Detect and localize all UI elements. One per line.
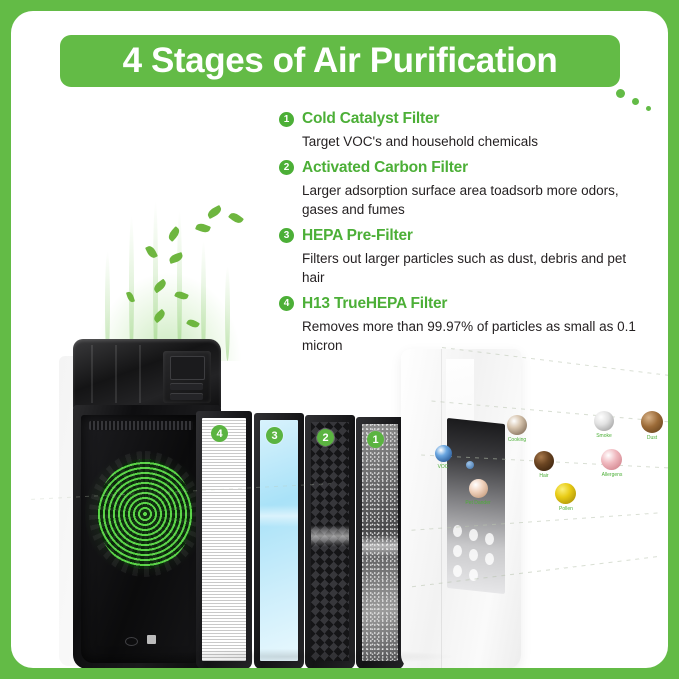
purifier-knob	[125, 637, 138, 646]
feature-title: Cold Catalyst Filter	[302, 110, 439, 128]
particle-cooking	[507, 415, 527, 435]
particle-label-dust: Dust	[647, 435, 657, 441]
filter-badge-3: 3	[266, 427, 283, 444]
particle-label-hair: Hair	[539, 473, 548, 479]
white-purifier-unit	[401, 349, 521, 668]
particle-label-cooking: Cooking	[508, 437, 526, 443]
page-title: 4 Stages of Air Purification	[60, 35, 620, 87]
particle-allergens	[601, 449, 622, 470]
purifier-top-seam	[115, 345, 117, 403]
green-border-frame: 4 Stages of Air Purification 1 Cold Cata…	[0, 0, 679, 679]
feature-description: Target VOC's and household chemicals	[302, 132, 642, 152]
control-button-row-top[interactable]	[170, 383, 203, 390]
filter-media-blue	[260, 420, 298, 661]
product-illustration: 4 3 2 1	[11, 161, 668, 668]
particle-pet-dander	[469, 479, 488, 498]
particle-micro-dot	[466, 461, 474, 469]
airflow-plume	[83, 186, 253, 361]
purifier-top-seam	[139, 345, 141, 403]
title-banner: 4 Stages of Air Purification	[60, 35, 642, 91]
particle-dust	[641, 411, 663, 433]
particle-label-smoke: Smoke	[596, 433, 612, 439]
feature-heading: 1 Cold Catalyst Filter	[279, 109, 659, 129]
banner-tail-dot-large	[616, 89, 625, 98]
intake-vent	[89, 421, 193, 430]
leaf-icon	[195, 222, 211, 235]
filter-media-carbon	[311, 422, 349, 661]
unit-seam	[441, 349, 442, 668]
leaf-icon	[186, 317, 200, 329]
particle-label-pet-dander: Pet Dander	[465, 500, 490, 506]
floor-shadow	[51, 649, 521, 668]
particle-hair	[534, 451, 554, 471]
filter-layer-1	[356, 417, 404, 668]
particle-label-allergens: Allergens	[602, 472, 623, 478]
content-panel: 4 Stages of Air Purification 1 Cold Cata…	[11, 11, 668, 668]
particle-label-pollen: Pollen	[559, 506, 573, 512]
particle-pollen	[555, 483, 576, 504]
purifier-logo	[147, 635, 156, 644]
stage-number-badge: 1	[279, 112, 294, 127]
purifier-top-seam	[91, 345, 93, 403]
filter-badge-4: 4	[211, 425, 228, 442]
filter-layer-2	[305, 415, 355, 668]
particle-voc	[435, 445, 452, 462]
filter-media-hepa	[202, 418, 246, 661]
feature-item-1: 1 Cold Catalyst Filter Target VOC's and …	[279, 109, 659, 152]
banner-tail-dot-medium	[632, 98, 639, 105]
filter-media-catalyst	[362, 424, 398, 661]
filter-badge-2: 2	[317, 429, 334, 446]
display-screen	[170, 356, 205, 380]
leaf-icon	[228, 211, 244, 226]
particle-label-voc: VOC	[438, 464, 449, 470]
particle-smoke	[594, 411, 614, 431]
control-button-row-bottom[interactable]	[170, 393, 203, 400]
leaf-icon	[206, 205, 223, 219]
fan-blades	[89, 451, 201, 577]
filter-layer-3	[254, 413, 304, 668]
filter-layer-4	[196, 411, 252, 668]
filter-badge-1: 1	[367, 431, 384, 448]
